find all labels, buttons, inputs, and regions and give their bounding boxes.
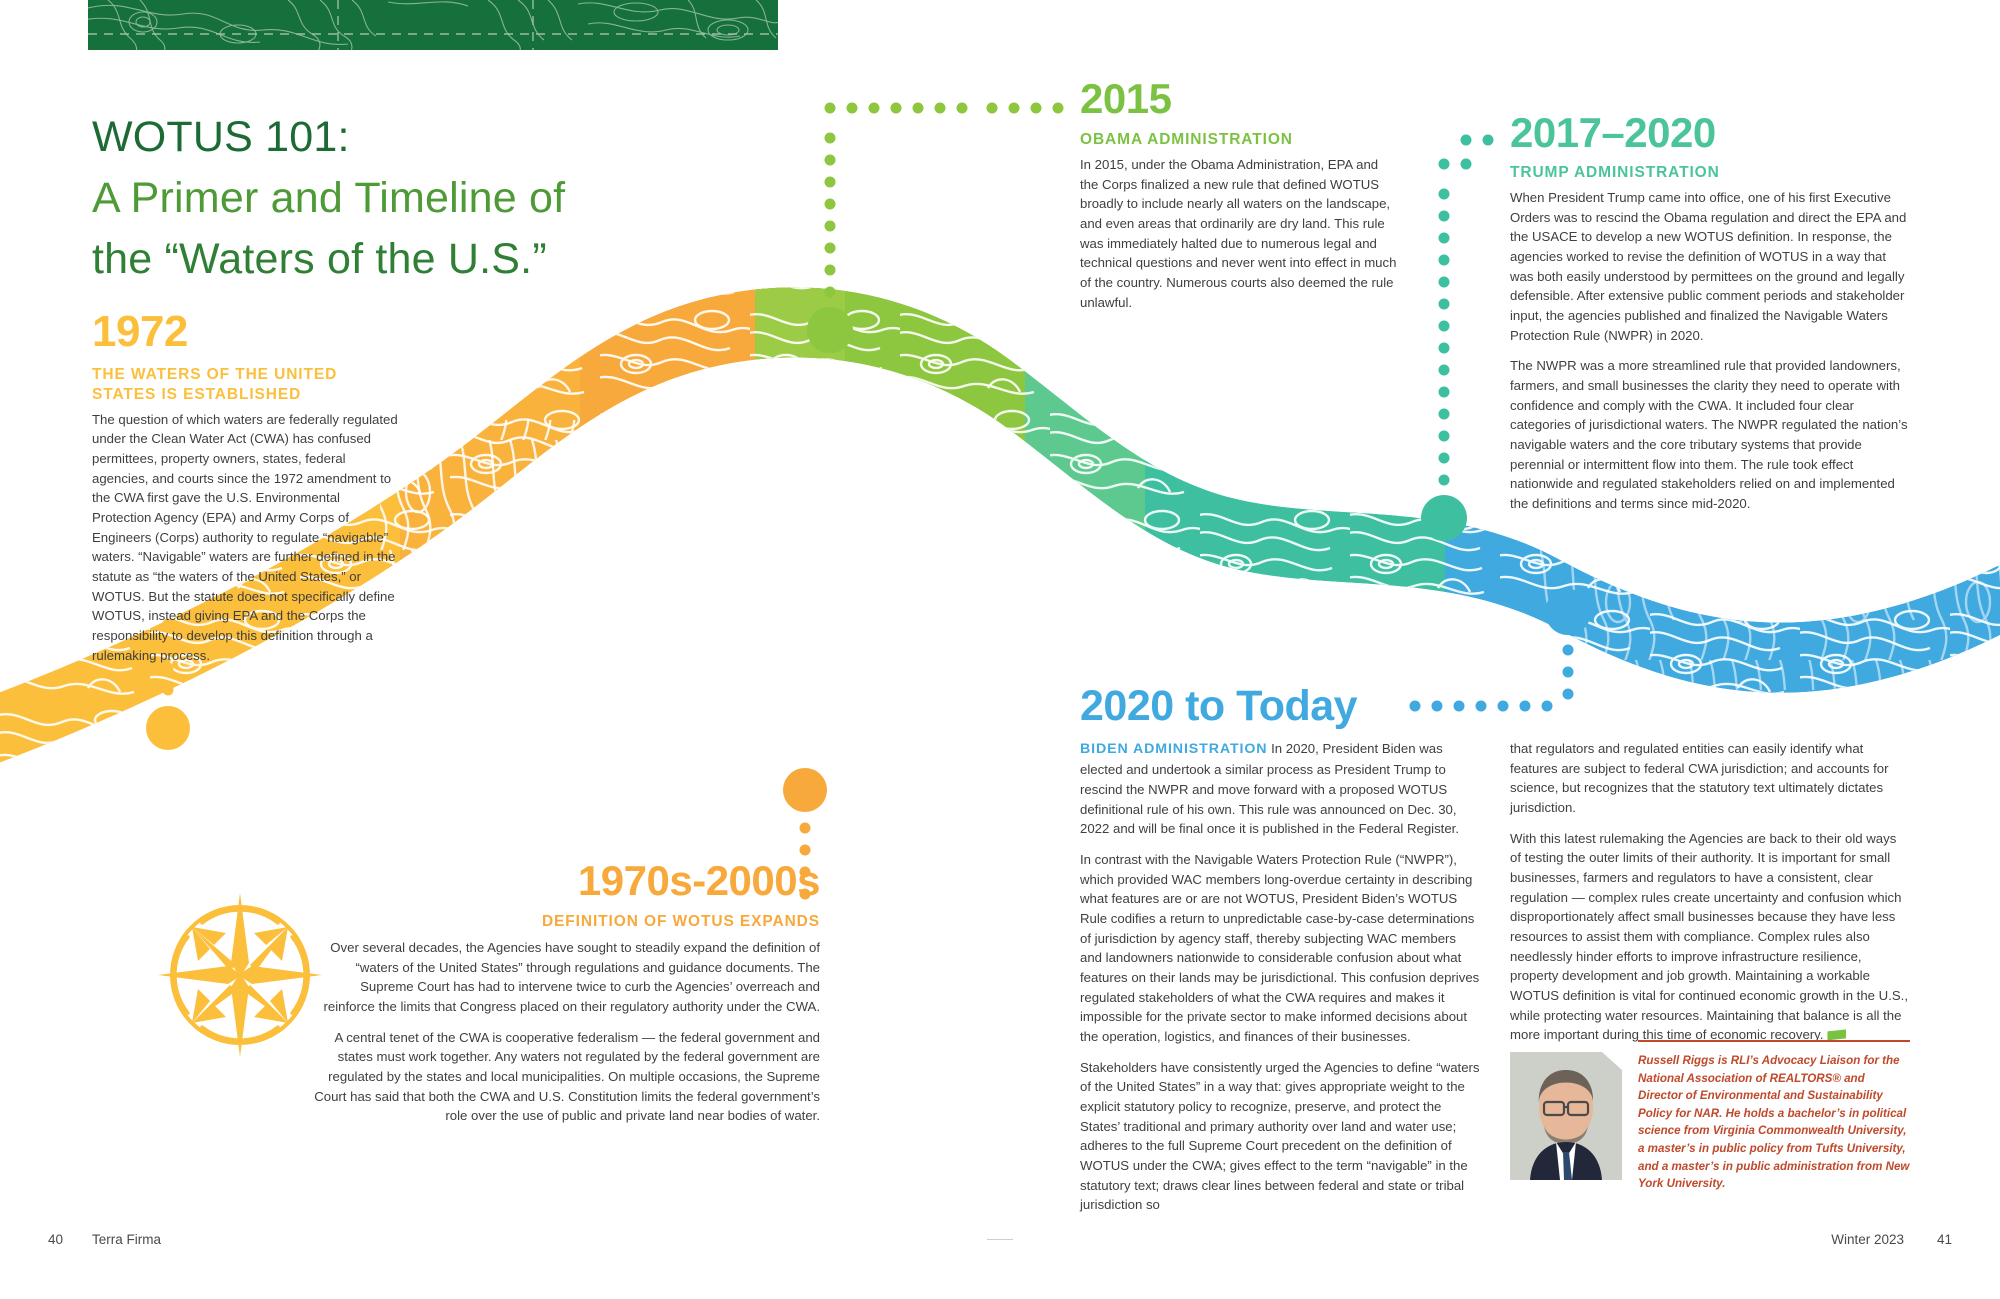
paragraph: A central tenet of the CWA is cooperativ… [310, 1028, 820, 1126]
timeline-section-2017-2020: 2017–2020 TRUMP ADMINISTRATION When Pres… [1510, 112, 1910, 514]
author-bio: Russell Riggs is RLI’s Advocacy Liaison … [1510, 1040, 1910, 1193]
footer-right: Winter 202341 [1831, 1232, 1952, 1247]
paragraph: In 2015, under the Obama Administration,… [1080, 155, 1400, 312]
body-1972: The question of which waters are federal… [92, 410, 402, 666]
year-label-2017-2020: 2017–2020 [1510, 112, 1910, 154]
timeline-section-1972: 1972 THE WATERS OF THE UNITED STATES IS … [92, 310, 402, 665]
page-title-line-2: A Primer and Timeline of [92, 168, 712, 229]
bio-divider [1638, 1040, 1910, 1042]
page-title-line-1: WOTUS 101: [92, 107, 712, 168]
footer-left: 40Terra Firma [48, 1232, 161, 1247]
body-2020-col-1: BIDEN ADMINISTRATION In 2020, President … [1080, 739, 1480, 1215]
paragraph: The question of which waters are federal… [92, 410, 402, 666]
paragraph: When President Trump came into office, o… [1510, 188, 1910, 345]
body-1970s-2000s: Over several decades, the Agencies have … [310, 938, 820, 1126]
year-label-2020-today: 2020 to Today [1080, 685, 1910, 728]
author-photo [1510, 1052, 1622, 1180]
kicker-1972: THE WATERS OF THE UNITED STATES IS ESTAB… [92, 365, 402, 405]
page-title-line-3: the “Waters of the U.S.” [92, 229, 712, 290]
year-label-2015: 2015 [1080, 78, 1400, 120]
timeline-section-2015: 2015 OBAMA ADMINISTRATION In 2015, under… [1080, 78, 1400, 312]
paragraph: With this latest rulemaking the Agencies… [1510, 829, 1910, 1045]
footer-page-left: 40 [48, 1232, 92, 1247]
kicker-2020: BIDEN ADMINISTRATION [1080, 741, 1267, 757]
paragraph: Stakeholders have consistently urged the… [1080, 1058, 1480, 1215]
footer-issue: Winter 2023 [1831, 1232, 1904, 1247]
gutter-mark [987, 1239, 1013, 1240]
topo-pattern-header [88, 0, 778, 50]
marker-2017 [1421, 135, 1494, 542]
magazine-spread: WOTUS 101: A Primer and Timeline of the … [0, 0, 2000, 1294]
page-title: WOTUS 101: A Primer and Timeline of the … [92, 107, 712, 290]
paragraph: The NWPR was a more streamlined rule tha… [1510, 356, 1910, 513]
paragraph: In contrast with the Navigable Waters Pr… [1080, 850, 1480, 1047]
header-topo-band [88, 0, 778, 50]
year-label-1970s-2000s: 1970s-2000s [310, 860, 820, 902]
timeline-section-1970s-2000s: 1970s-2000s DEFINITION OF WOTUS EXPANDS … [310, 860, 820, 1126]
body-2017-2020: When President Trump came into office, o… [1510, 188, 1910, 514]
kicker-2017-2020: TRUMP ADMINISTRATION [1510, 163, 1910, 183]
marker-2015 [807, 103, 1064, 354]
footer-page-right: 41 [1904, 1232, 1952, 1247]
body-2015: In 2015, under the Obama Administration,… [1080, 155, 1400, 312]
page-footer: 40Terra Firma Winter 202341 [0, 1232, 2000, 1252]
author-bio-text: Russell Riggs is RLI’s Advocacy Liaison … [1638, 1052, 1910, 1193]
paragraph-lead: BIDEN ADMINISTRATION In 2020, President … [1080, 739, 1480, 839]
end-mark-icon [1827, 1029, 1846, 1040]
footer-publication: Terra Firma [92, 1232, 161, 1247]
paragraph-text: With this latest rulemaking the Agencies… [1510, 831, 1908, 1043]
paragraph: Over several decades, the Agencies have … [310, 938, 820, 1017]
kicker-2015: OBAMA ADMINISTRATION [1080, 130, 1400, 150]
kicker-1970s-2000s: DEFINITION OF WOTUS EXPANDS [310, 912, 820, 932]
paragraph: that regulators and regulated entities c… [1510, 739, 1910, 818]
compass-rose-icon [150, 885, 330, 1065]
year-label-1972: 1972 [92, 310, 402, 354]
